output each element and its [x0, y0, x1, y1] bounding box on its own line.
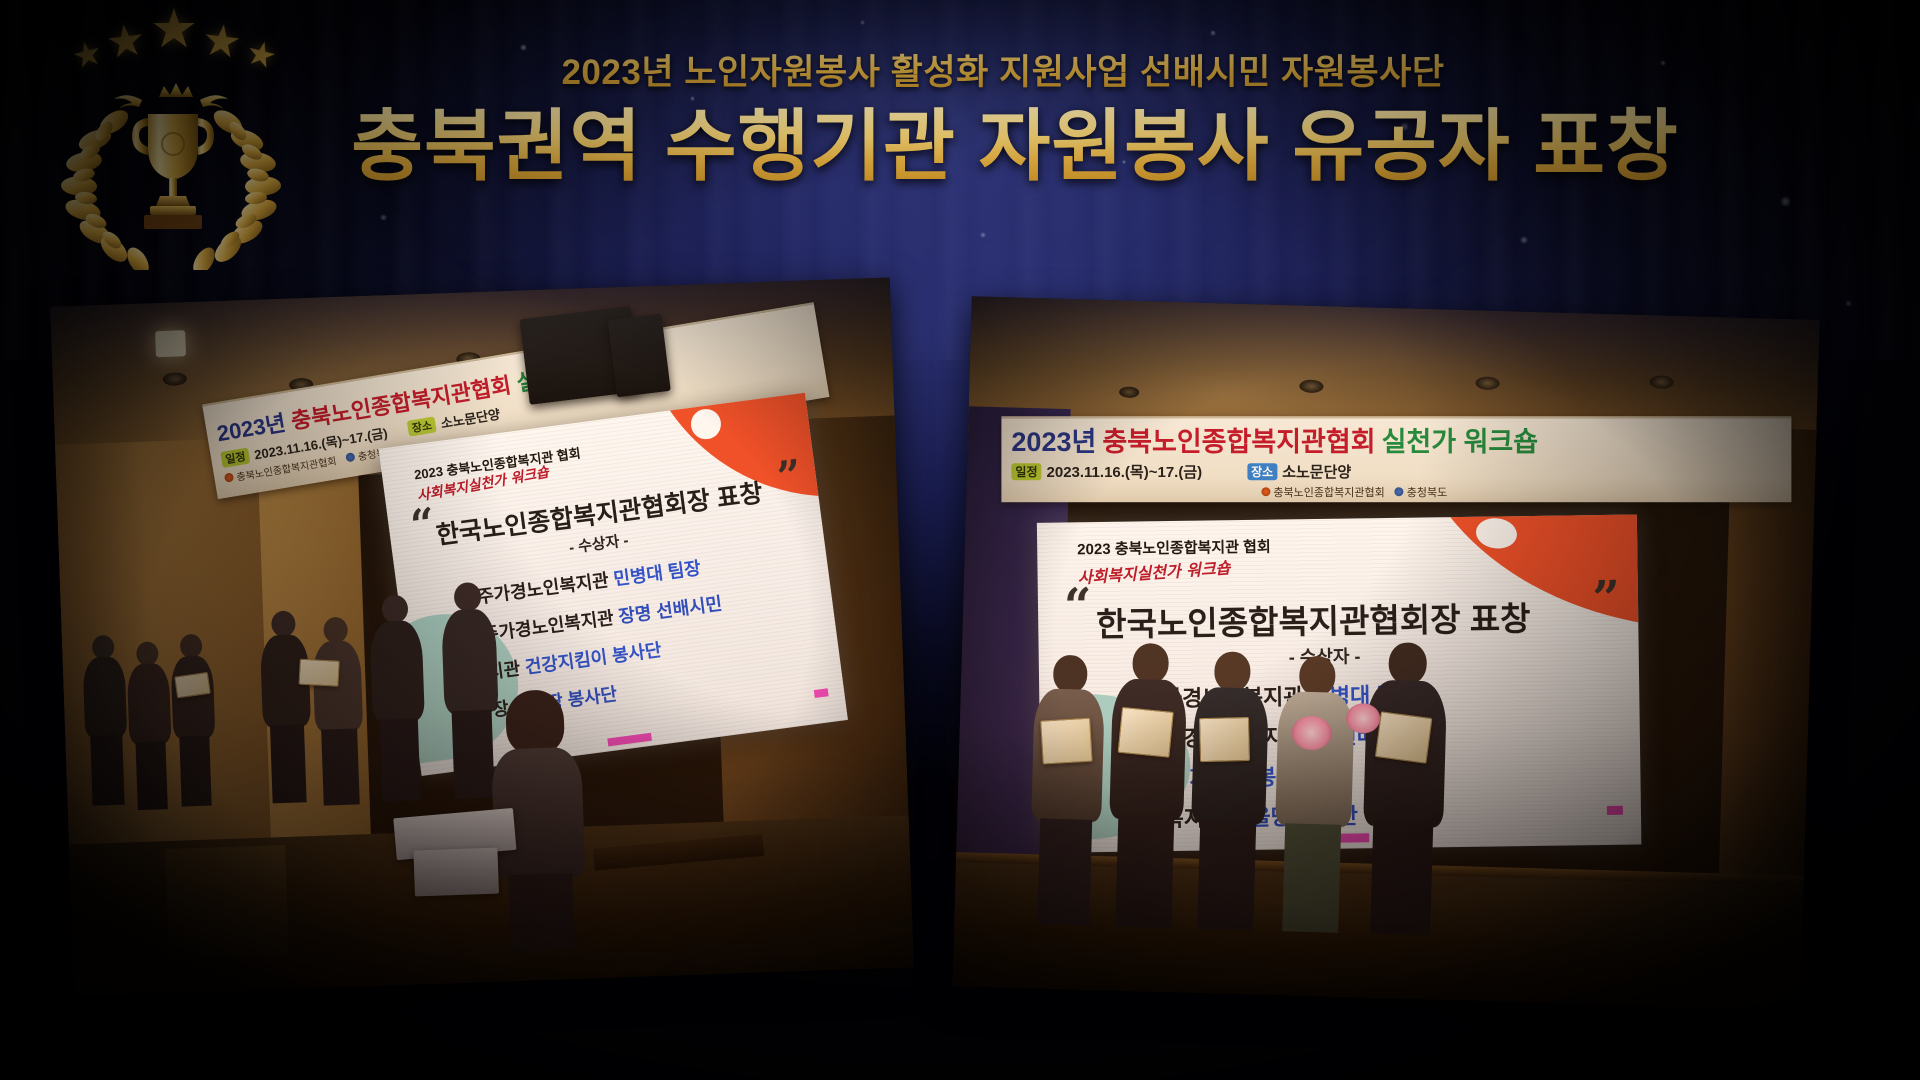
person-recipient — [1186, 651, 1272, 935]
slide-award-title: 한국노인종합복지관협회장 표창 — [1096, 592, 1531, 646]
footer-org-right: 충청북도 — [1395, 484, 1447, 500]
speaker-box — [608, 313, 671, 397]
certificate — [1199, 717, 1250, 762]
podium-base — [413, 848, 499, 897]
ceremony-photo-left[interactable]: 2023년 충북노인종합복지관협회 실천가 워크숍 일정 2023.11.16.… — [50, 278, 914, 997]
certificate — [1040, 718, 1093, 765]
stage-riser — [165, 845, 289, 959]
person-recipient — [1026, 654, 1108, 928]
photo-collage: 2023년 충북노인종합복지관협회 실천가 워크숍 일정 2023.11.16.… — [0, 272, 1920, 1080]
award-poster: ★ ★ ★ ★ ★ — [0, 0, 1920, 1080]
hall-banner-footer: 충북노인종합복지관협회 충청북도 — [1261, 484, 1781, 500]
bokeh-dot — [690, 96, 695, 101]
person — [257, 610, 316, 804]
schedule-chip: 일정 — [220, 447, 251, 467]
person-recipient — [1270, 655, 1358, 937]
hall-scene: 2023년 충북노인종합복지관협회 실천가 워크숍 일정 2023.11.16.… — [50, 278, 914, 997]
downlight — [1299, 379, 1323, 393]
place-chip: 장소 — [1247, 463, 1277, 480]
hall-banner-title-row: 2023년 충북노인종합복지관협회 실천가 워크숍 — [1011, 420, 1781, 459]
person-recipient — [1358, 641, 1450, 939]
certificate — [298, 659, 339, 687]
place-value: 소노문단양 — [1282, 461, 1351, 482]
person — [309, 616, 368, 806]
hall-scene: 2023년 충북노인종합복지관협회 실천가 워크숍 일정 2023.11.16.… — [953, 296, 1820, 1009]
hall-banner-workshop: 실천가 워크숍 — [1382, 420, 1539, 459]
schedule-chip: 일정 — [1011, 463, 1041, 480]
downlight — [1475, 376, 1499, 390]
bokeh-dot — [380, 214, 387, 221]
person — [366, 594, 429, 802]
schedule-value: 2023.11.16.(목)~17.(금) — [1047, 461, 1203, 482]
ceremony-photo-right[interactable]: 2023년 충북노인종합복지관협회 실천가 워크숍 일정 2023.11.16.… — [953, 296, 1820, 1009]
slide-quote-open: “ — [408, 498, 438, 550]
slide-quote-close: ” — [1592, 571, 1620, 627]
footer-org-left: 충북노인종합복지관협회 — [1261, 484, 1384, 500]
slide-header: 2023 충북노인종합복지관 협회 — [1077, 536, 1271, 560]
downlight — [1649, 375, 1673, 389]
bokeh-dot — [980, 232, 986, 238]
slide-pink-accent — [607, 733, 652, 747]
person-recipient — [1104, 642, 1190, 930]
bokeh-dot — [1780, 196, 1791, 207]
hall-banner-year: 2023년 — [1011, 420, 1096, 459]
slide-pink-accent — [1607, 806, 1623, 815]
slide-pink-accent — [814, 688, 829, 698]
slide-quote-open: “ — [1064, 578, 1092, 634]
hall-banner-info-row: 일정 2023.11.16.(목)~17.(금) 장소 소노문단양 — [1011, 461, 1781, 482]
downlight — [1119, 386, 1139, 398]
person — [168, 633, 220, 807]
poster-subtitle: 2023년 노인자원봉사 활성화 지원사업 선배시민 자원봉사단 — [0, 44, 1920, 95]
certificate — [1375, 711, 1433, 763]
poster-main-title: 충북권역 수행기관 자원봉사 유공자 표창 — [0, 104, 1920, 188]
place-chip: 장소 — [407, 416, 438, 436]
certificate — [174, 672, 211, 699]
bokeh-dot — [1520, 236, 1528, 244]
hall-banner-org: 충북노인종합복지관협회 — [1102, 420, 1375, 459]
bokeh-dot — [860, 20, 865, 25]
spotlight — [155, 330, 186, 357]
bokeh-dot — [1210, 30, 1216, 36]
certificate — [1118, 707, 1174, 758]
hall-banner: 2023년 충북노인종합복지관협회 실천가 워크숍 일정 2023.11.16.… — [1001, 416, 1791, 502]
slide-script-line: 사회복지실천가 워크숍 — [1077, 554, 1231, 588]
